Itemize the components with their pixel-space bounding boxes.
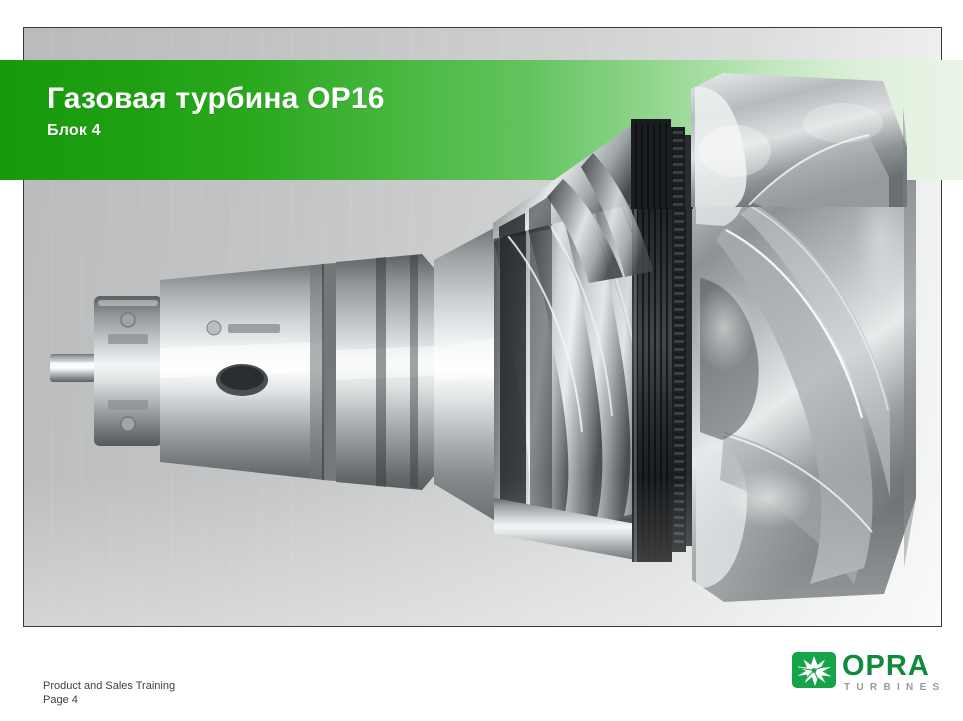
opra-logo: OPRA TURBINES	[792, 650, 938, 702]
presentation-slide: Газовая турбина OP16 Блок 4	[0, 0, 963, 721]
footer-line-1: Product and Sales Training	[43, 679, 175, 693]
footer-line-2: Page 4	[43, 693, 175, 707]
slide-title: Газовая турбина OP16	[47, 82, 385, 116]
opra-wordmark: OPRA	[842, 650, 930, 682]
footer-text: Product and Sales Training Page 4	[43, 679, 175, 707]
opra-tagline: TURBINES	[844, 682, 946, 694]
turbine-starburst-icon	[792, 652, 836, 688]
slide-header-band: Газовая турбина OP16 Блок 4	[0, 60, 963, 180]
slide-subtitle: Блок 4	[47, 122, 101, 140]
